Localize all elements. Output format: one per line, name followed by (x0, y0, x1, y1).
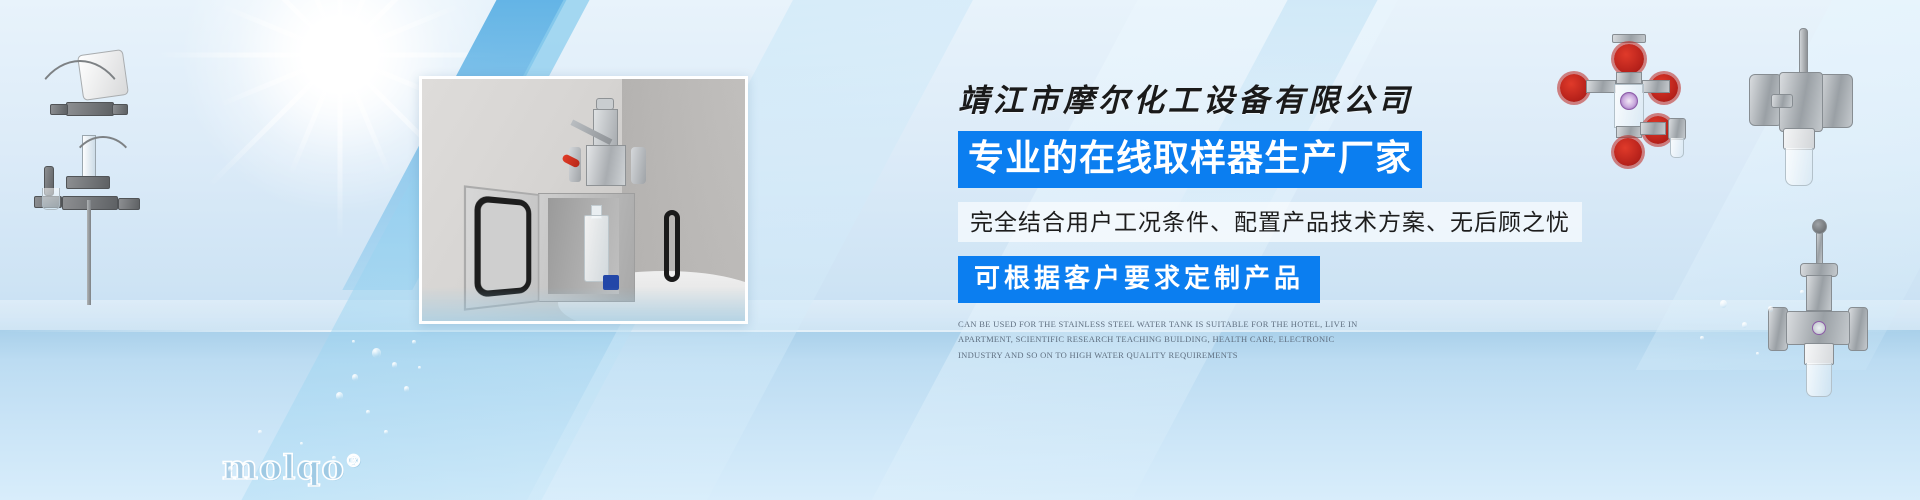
water-droplet (404, 386, 409, 392)
cross-neck-top (1616, 72, 1642, 84)
center-product-photo (419, 76, 748, 324)
photo-water-overlay (422, 287, 745, 321)
water-droplet (1768, 306, 1773, 312)
bottom-sample-bottle (1806, 363, 1832, 397)
sampler-valve-assembly (564, 98, 648, 200)
sun-ray (207, 53, 341, 187)
copy-block: 靖江市摩尔化工设备有限公司 专业的在线取样器生产厂家 完全结合用户工况条件、配置… (958, 82, 1498, 364)
cross-neck-bottom (1616, 126, 1642, 138)
valve-bottle-collar (1783, 128, 1815, 150)
brand-logo: molqo® (222, 448, 363, 488)
right-product-lever-valve (1745, 28, 1865, 208)
bottom-stem-ball (1812, 219, 1827, 234)
valve-side-port (1771, 94, 1793, 108)
water-droplet (336, 392, 343, 400)
right-product-cross-sampler (1556, 32, 1701, 162)
logo-wordmark: molqo (222, 448, 345, 488)
water-droplet (392, 362, 397, 368)
bottom-flange-left (1768, 307, 1788, 351)
brand-seal-icon (1620, 92, 1638, 110)
subline-text: 完全结合用户工况条件、配置产品技术方案、无后顾之忧 (958, 202, 1582, 242)
valve-sample-bottle (1785, 148, 1813, 186)
bottom-stem-housing (1806, 275, 1832, 311)
promo-banner: 靖江市摩尔化工设备有限公司 专业的在线取样器生产厂家 完全结合用户工况条件、配置… (0, 0, 1920, 500)
headline-banner: 专业的在线取样器生产厂家 (958, 131, 1422, 188)
cross-sample-bottle (1670, 138, 1684, 158)
right-product-bottom-sampler (1762, 225, 1874, 400)
water-droplet (352, 374, 358, 381)
cta-banner: 可根据客户要求定制产品 (958, 256, 1320, 303)
capillary-tube-right (68, 136, 138, 216)
registered-mark-icon: ® (345, 452, 363, 472)
cross-bottle-holder (1668, 118, 1686, 140)
water-droplet (1720, 300, 1727, 308)
cross-arm-left (1586, 80, 1616, 93)
bottom-bottle-collar (1804, 343, 1834, 365)
sun-ray (338, 55, 343, 240)
cabinet-side-handle (664, 210, 680, 283)
insertion-probe-rod (87, 200, 91, 305)
valve-body (586, 145, 626, 186)
bottom-brand-plate-icon (1812, 321, 1826, 335)
sun-ray (155, 53, 340, 58)
cross-arm-lower-right (1640, 122, 1666, 135)
handwheel-left (1560, 74, 1588, 102)
photo-content (422, 79, 745, 321)
company-name: 靖江市摩尔化工设备有限公司 (958, 82, 1498, 121)
valve-flange-right (631, 147, 646, 184)
cross-flange-top (1612, 34, 1646, 43)
cross-arm-right (1642, 80, 1670, 93)
cabinet-door-gasket (474, 195, 531, 298)
water-droplet (228, 466, 233, 472)
handwheel-bottom (1614, 138, 1642, 166)
water-droplet (372, 348, 381, 358)
sample-bottle (584, 215, 610, 283)
bottom-flange-right (1848, 307, 1868, 351)
handwheel-top (1614, 44, 1644, 74)
english-description: CAN BE USED FOR THE STAINLESS STEEL WATE… (958, 317, 1370, 364)
sample-jar-left (42, 188, 60, 210)
left-product-illustration (18, 40, 158, 300)
water-droplet (1742, 322, 1747, 328)
